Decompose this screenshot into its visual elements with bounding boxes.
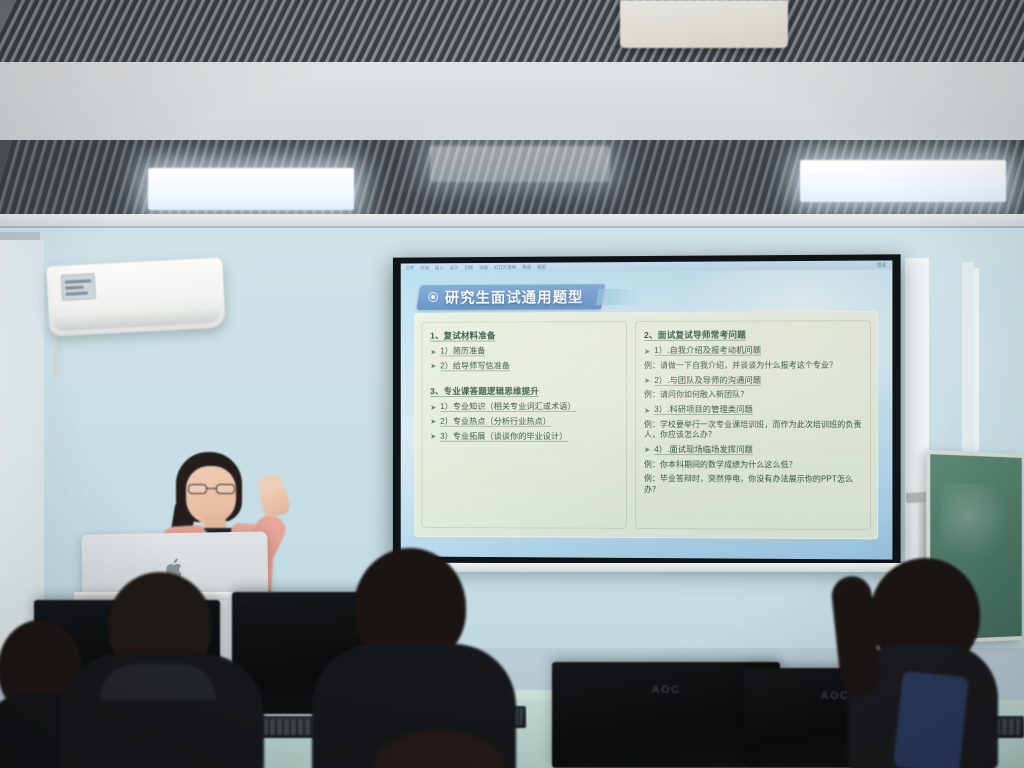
block-2-example-3-1: 例：毕业答辩时，突然停电，你没有办法展示你的PPT怎么办？	[644, 474, 862, 495]
arrow-bullet-icon: ➤	[644, 376, 650, 386]
toolbar-item-4[interactable]: 切换	[465, 265, 474, 271]
student-bottom-center	[364, 730, 514, 768]
slide-block-1: 1、复试材料准备 ➤ 1）简历准备 ➤ 2）给导师写信准备	[430, 329, 618, 371]
toolbar-item-6[interactable]: 幻灯片放映	[494, 264, 516, 270]
arrow-bullet-icon: ➤	[430, 417, 436, 427]
block-2-example-2-0: 例：学校要举行一次专业课培训班，而作为此次培训班的负责人，你应该怎么办？	[644, 420, 862, 441]
arrow-bullet-icon: ➤	[430, 402, 436, 412]
slide-title-tail	[596, 289, 642, 305]
student-right	[840, 558, 1020, 768]
block-2-item-2: ➤ 3）.科研项目的管理类问题	[644, 405, 862, 415]
slide-block-3: 3、专业课答题逻辑思维提升 ➤ 1）专业知识（相关专业词汇或术语） ➤ 2）专业…	[430, 385, 618, 442]
block-2-item-1: ➤ 2）.与团队及导师的沟通问题	[644, 375, 862, 386]
block-3-heading: 3、专业课答题逻辑思维提升	[430, 385, 618, 397]
arrow-bullet-icon: ➤	[644, 445, 650, 455]
classroom-photo: 文件 开始 插入 设计 切换 动画 幻灯片放映 审阅 视图 登录 研究生面试通用…	[0, 0, 1024, 768]
arrow-bullet-icon: ➤	[644, 405, 650, 415]
block-2-example-3-0: 例：你本科期间的数学成绩为什么这么低？	[644, 460, 862, 471]
toolbar-item-3[interactable]: 设计	[450, 265, 459, 271]
block-1-item-0: ➤ 1）简历准备	[430, 346, 618, 357]
projector	[620, 0, 788, 48]
slide-title: 研究生面试通用题型	[445, 286, 584, 308]
ac-display-panel	[61, 273, 96, 301]
wall-left-panel	[0, 240, 44, 660]
arrow-bullet-icon: ➤	[430, 361, 436, 371]
block-3-item-2: ➤ 3）专业拓展（谈谈你的毕业设计）	[430, 431, 618, 441]
toolbar-item-8[interactable]: 视图	[537, 264, 546, 270]
block-1-item-1: ➤ 2）给导师写信准备	[430, 361, 618, 372]
ceiling-baffle-upper	[0, 0, 1024, 62]
ac-vent	[53, 309, 222, 332]
arrow-bullet-icon: ➤	[430, 347, 436, 357]
toolbar-item-1[interactable]: 开始	[420, 265, 429, 271]
arrow-bullet-icon: ➤	[644, 346, 650, 356]
aoc-logo-text: AOC	[652, 684, 681, 696]
slide-right-column: 2、面试复试导师常考问题 ➤ 1）.自我介绍及报考动机问题 例：请做一下自我介绍…	[635, 320, 871, 530]
ceiling-light-left	[148, 168, 354, 210]
toolbar-signin[interactable]: 登录	[877, 262, 892, 268]
block-1-heading: 1、复试材料准备	[430, 329, 618, 342]
chalk-smudge	[940, 483, 1010, 564]
slide-title-banner: 研究生面试通用题型	[418, 284, 641, 310]
slide-title-tab: 研究生面试通用题型	[416, 284, 605, 310]
target-bullet-icon	[428, 292, 438, 302]
instructor-hand	[258, 481, 292, 519]
air-conditioner	[46, 257, 225, 336]
slide-content-panel: 1、复试材料准备 ➤ 1）简历准备 ➤ 2）给导师写信准备 3、专业课答题逻辑思…	[414, 311, 878, 539]
toolbar-item-5[interactable]: 动画	[479, 264, 488, 270]
student-front-left	[56, 572, 270, 768]
block-2-example-1-0: 例：请问你如何融入新团队？	[644, 390, 862, 400]
block-3-item-1: ➤ 2）专业热点（分析行业热点）	[430, 417, 618, 427]
toolbar-item-2[interactable]: 插入	[435, 265, 444, 271]
projected-slide: 文件 开始 插入 设计 切换 动画 幻灯片放映 审阅 视图 登录 研究生面试通用…	[401, 260, 893, 559]
ceiling-light-right	[800, 160, 1006, 202]
ceiling-plenum	[0, 62, 1024, 140]
block-2-heading: 2、面试复试导师常考问题	[644, 328, 862, 341]
eyeglasses	[188, 484, 235, 494]
projection-screen: 文件 开始 插入 设计 切换 动画 幻灯片放映 审阅 视图 登录 研究生面试通用…	[393, 254, 901, 565]
block-2-item-0: ➤ 1）.自我介绍及报考动机问题	[644, 345, 862, 356]
slide-left-column: 1、复试材料准备 ➤ 1）简历准备 ➤ 2）给导师写信准备 3、专业课答题逻辑思…	[421, 321, 627, 529]
toolbar-item-7[interactable]: 审阅	[522, 264, 531, 270]
block-3-item-0: ➤ 1）专业知识（相关专业词汇或术语）	[430, 402, 618, 412]
student-navy-bag	[893, 671, 969, 768]
toolbar-item-0[interactable]: 文件	[406, 265, 415, 271]
block-2-example-0-0: 例：请做一下自我介绍，并谈谈为什么报考这个专业？	[644, 360, 862, 371]
ceiling-light-center	[430, 146, 610, 182]
block-2-item-3: ➤ 4）.面试现场临场发挥问题	[644, 445, 862, 456]
arrow-bullet-icon: ➤	[430, 431, 436, 441]
